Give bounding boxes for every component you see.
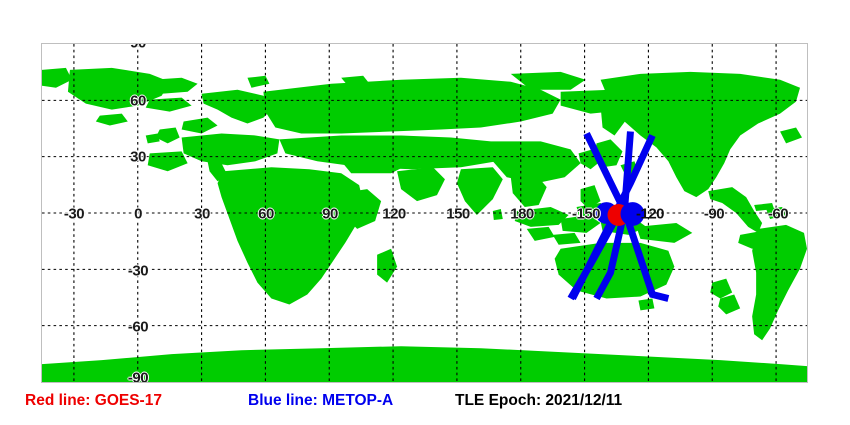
legend-tle-epoch: TLE Epoch: 2021/12/11 (455, 392, 622, 410)
satellite-markers (596, 202, 645, 226)
world-map-panel: -30 0 30 60 90 120 150 180 -150 -120 -90… (41, 43, 808, 383)
legend-blue-line: Blue line: METOP-A (248, 392, 393, 410)
metop-a-marker-east (620, 202, 644, 226)
legend-red-line: Red line: GOES-17 (25, 392, 162, 410)
world-map-svg (42, 44, 807, 382)
legend-caption: Red line: GOES-17 Blue line: METOP-A TLE… (0, 392, 850, 425)
landmasses (42, 68, 807, 382)
